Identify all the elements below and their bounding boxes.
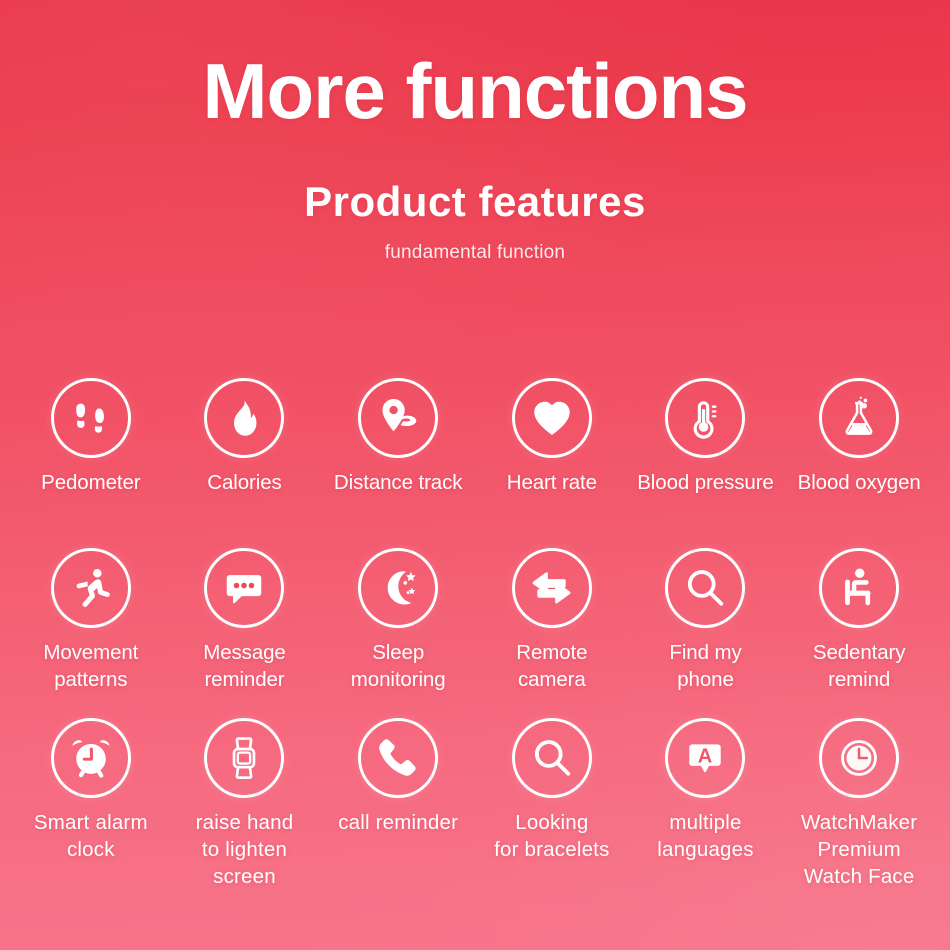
feature-label: Pedometer xyxy=(41,469,140,496)
feature-label: Sedentary remind xyxy=(813,639,906,693)
heart-icon xyxy=(512,378,592,458)
feature-item[interactable]: Heart rate xyxy=(475,378,629,496)
flask-icon xyxy=(819,378,899,458)
poster-header: More functions Product features fundamen… xyxy=(0,0,950,264)
feature-item[interactable]: WatchMaker Premium Watch Face xyxy=(782,718,936,890)
feature-item[interactable]: Find my phone xyxy=(629,548,783,693)
magnifier-icon xyxy=(512,718,592,798)
feature-label: Distance track xyxy=(334,469,462,496)
feature-item[interactable]: Blood oxygen xyxy=(782,378,936,496)
chat-bubble-icon xyxy=(204,548,284,628)
double-arrow-icon xyxy=(512,548,592,628)
feature-label: WatchMaker Premium Watch Face xyxy=(801,809,917,890)
feature-label: Blood oxygen xyxy=(798,469,921,496)
feature-label: Message reminder xyxy=(203,639,285,693)
svg-text:A: A xyxy=(698,745,713,767)
seated-person-icon xyxy=(819,548,899,628)
feature-label: Blood pressure xyxy=(637,469,774,496)
feature-row-3: Smart alarm clock raise hand to lighten … xyxy=(0,718,950,890)
moon-stars-icon xyxy=(358,548,438,628)
section-caption: fundamental function xyxy=(0,242,950,264)
feature-label: raise hand to lighten screen xyxy=(168,809,322,890)
clock-face-icon xyxy=(819,718,899,798)
running-person-icon xyxy=(51,548,131,628)
feature-item[interactable]: Movement patterns xyxy=(14,548,168,693)
feature-label: Heart rate xyxy=(507,469,597,496)
flame-icon xyxy=(204,378,284,458)
feature-item[interactable]: A multiple languages xyxy=(629,718,783,890)
feature-label: Remote camera xyxy=(516,639,587,693)
feature-label: Movement patterns xyxy=(43,639,138,693)
feature-row-2: Movement patterns Message reminder Sleep… xyxy=(0,548,950,693)
feature-label: multiple languages xyxy=(657,809,753,863)
alarm-clock-icon xyxy=(51,718,131,798)
magnifier-icon xyxy=(665,548,745,628)
feature-item[interactable]: Message reminder xyxy=(168,548,322,693)
feature-label: Find my phone xyxy=(669,639,741,693)
feature-label: Smart alarm clock xyxy=(34,809,148,863)
feature-row-1: PedometerCalories Distance trackHeart ra… xyxy=(0,378,950,496)
map-pin-icon xyxy=(358,378,438,458)
smartwatch-icon xyxy=(204,718,284,798)
feature-item[interactable]: Remote camera xyxy=(475,548,629,693)
feature-item[interactable]: Sedentary remind xyxy=(782,548,936,693)
phone-handset-icon xyxy=(358,718,438,798)
feature-item[interactable]: Looking for bracelets xyxy=(475,718,629,890)
feature-item[interactable]: Blood pressure xyxy=(629,378,783,496)
section-title: Product features xyxy=(0,178,950,226)
letter-a-bubble-icon: A xyxy=(665,718,745,798)
feature-item[interactable]: call reminder xyxy=(321,718,475,890)
feature-label: Calories xyxy=(207,469,281,496)
page-title: More functions xyxy=(0,52,950,132)
promo-poster: More functions Product features fundamen… xyxy=(0,0,950,950)
feature-label: call reminder xyxy=(338,809,458,836)
thermometer-icon xyxy=(665,378,745,458)
feature-item[interactable]: raise hand to lighten screen xyxy=(168,718,322,890)
feature-item[interactable]: Sleep monitoring xyxy=(321,548,475,693)
feature-label: Sleep monitoring xyxy=(351,639,446,693)
feature-item[interactable]: Calories xyxy=(168,378,322,496)
feature-label: Looking for bracelets xyxy=(494,809,609,863)
feature-item[interactable]: Distance track xyxy=(321,378,475,496)
feature-item[interactable]: Pedometer xyxy=(14,378,168,496)
footsteps-icon xyxy=(51,378,131,458)
feature-item[interactable]: Smart alarm clock xyxy=(14,718,168,890)
